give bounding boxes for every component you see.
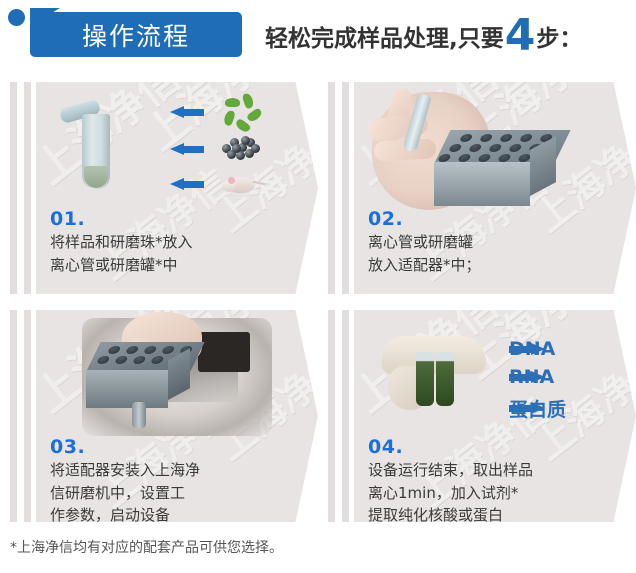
panel-stripe [342,82,349,294]
output-row-protein: 蛋白质 [509,395,566,422]
step-card: 上海净信 上海净信 上海净信 上海净信 [354,82,636,294]
right-arrow-icon [509,371,545,384]
page-title-prefix: 轻松完成样品处理,只要 [265,19,504,53]
step-number: 03. [50,438,294,458]
panel-stripe [24,82,31,294]
section-badge-label: 操作流程 [30,12,242,57]
step-text-line: 将适配器安装入上海净 [50,460,294,481]
step-number: 04. [368,438,612,458]
step-panel-02: 上海净信 上海净信 上海净信 上海净信 [318,74,636,301]
adapter-block-icon [434,130,554,208]
step-text-line: 离心管或研磨罐 [368,232,612,253]
decorative-dot-icon [8,9,25,26]
step-card: 上海净信 上海净信 上海净信 上海净信 DNA RNA [354,310,636,522]
output-row-rna: RNA [509,366,554,388]
right-arrow-icon [509,343,545,356]
left-arrow-icon [170,106,204,119]
left-arrow-icon [170,143,204,156]
adapter-block-icon [86,342,190,408]
sample-vial-icon [436,352,454,406]
step-panel-03: 上海净信 上海净信 上海净信 上海净信 [0,302,318,529]
step-text-line: 将样品和研磨珠*放入 [50,232,294,253]
page-header: 操作流程 轻松完成样品处理,只要 4 步： [0,0,636,74]
panel-stripe [10,82,17,294]
step-photo-02 [354,82,636,210]
sample-vial-icon [416,352,434,406]
step-photo-03 [36,310,318,438]
panel-stripe [328,310,335,522]
step-panel-04: 上海净信 上海净信 上海净信 上海净信 DNA RNA [318,302,636,529]
page-title-number: 4 [505,18,536,53]
steps-grid: 上海净信 上海净信 上海净信 上海净信 [0,74,636,529]
step-text-line: 提取纯化核酸或蛋白 [368,505,612,522]
panel-stripe [342,310,349,522]
centrifuge-tube-icon [82,104,110,190]
page-title: 轻松完成样品处理,只要 4 步： [265,14,582,59]
drive-shaft-shape [132,402,146,428]
step-photo-01 [36,82,318,210]
plant-leaf-icon [222,96,256,128]
step-caption-02: 02. 离心管或研磨罐 放入适配器*中； [368,210,612,275]
step-caption-01: 01. 将样品和研磨珠*放入 离心管或研磨罐*中 [50,210,294,275]
step-number: 01. [50,210,294,230]
grinding-beads-icon [220,134,260,160]
step-caption-04: 04. 设备运行结束，取出样品 离心1min，加入试剂* 提取纯化核酸或蛋白 [368,438,612,522]
laboratory-mouse-icon [222,172,260,196]
footer-note: *上海净信均有对应的配套产品可供您选择。 [10,537,283,557]
right-arrow-icon [509,402,545,415]
output-row-dna: DNA [509,338,555,360]
step-text-line: 设备运行结束，取出样品 [368,460,612,481]
step-caption-03: 03. 将适配器安装入上海净 信研磨机中，设置工 作参数，启动设备 [50,438,294,522]
step-panel-01: 上海净信 上海净信 上海净信 上海净信 [0,74,318,301]
panel-stripe [328,82,335,294]
step-number: 02. [368,210,612,230]
panel-stripe [24,310,31,522]
step-card: 上海净信 上海净信 上海净信 上海净信 [36,82,318,294]
page-title-suffix: 步： [536,19,582,53]
step-text-line: 信研磨机中，设置工 [50,483,294,504]
step-text-line: 离心管或研磨罐*中 [50,255,294,276]
step-photo-04: DNA RNA 蛋白质 [354,310,636,438]
step-text-line: 离心1min，加入试剂* [368,483,612,504]
panel-stripe [10,310,17,522]
step-text-line: 放入适配器*中； [368,255,612,276]
step-card: 上海净信 上海净信 上海净信 上海净信 [36,310,318,522]
left-arrow-icon [170,178,204,191]
step-text-line: 作参数，启动设备 [50,505,294,522]
